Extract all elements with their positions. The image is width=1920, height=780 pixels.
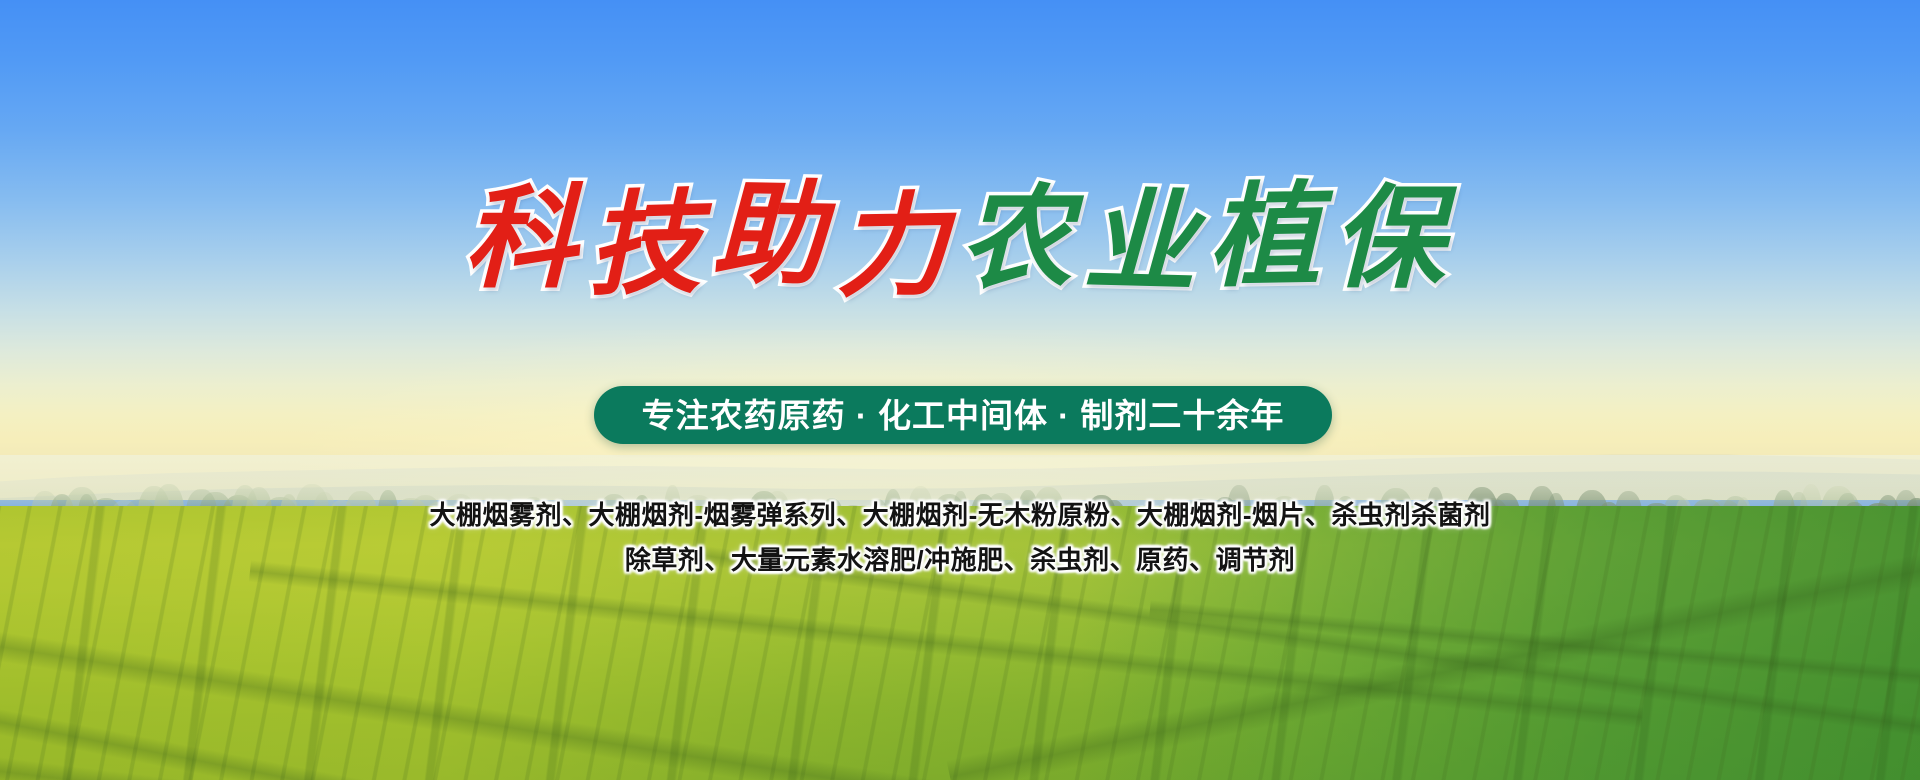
title-char-3: 助 — [711, 179, 837, 293]
tagline-text: 专注农药原药 · 化工中间体 · 制剂二十余年 — [642, 399, 1285, 432]
title-char-2: 技 — [587, 188, 714, 303]
hero-banner: 科技助力农业植保 专注农药原药 · 化工中间体 · 制剂二十余年 大棚烟雾剂、大… — [0, 0, 1920, 780]
tagline-pill-banner: 专注农药原药 · 化工中间体 · 制剂二十余年 — [594, 386, 1332, 444]
title-char-8: 保 — [1332, 184, 1456, 296]
title-char-7: 植 — [1207, 181, 1333, 295]
title-char-5: 农 — [960, 184, 1084, 296]
product-list: 大棚烟雾剂、大棚烟剂-烟雾弹系列、大棚烟剂-无木粉原粉、大棚烟剂-烟片、杀虫剂杀… — [0, 498, 1920, 588]
title-char-4: 力 — [835, 191, 961, 305]
product-line-1: 大棚烟雾剂、大棚烟剂-烟雾弹系列、大棚烟剂-无木粉原粉、大棚烟剂-烟片、杀虫剂杀… — [0, 498, 1920, 533]
title-char-6: 业 — [1083, 186, 1210, 301]
title-char-1: 科 — [464, 184, 588, 296]
product-line-2: 除草剂、大量元素水溶肥/冲施肥、杀虫剂、原药、调节剂 — [0, 543, 1920, 578]
page-title: 科技助力农业植保 — [0, 184, 1920, 296]
